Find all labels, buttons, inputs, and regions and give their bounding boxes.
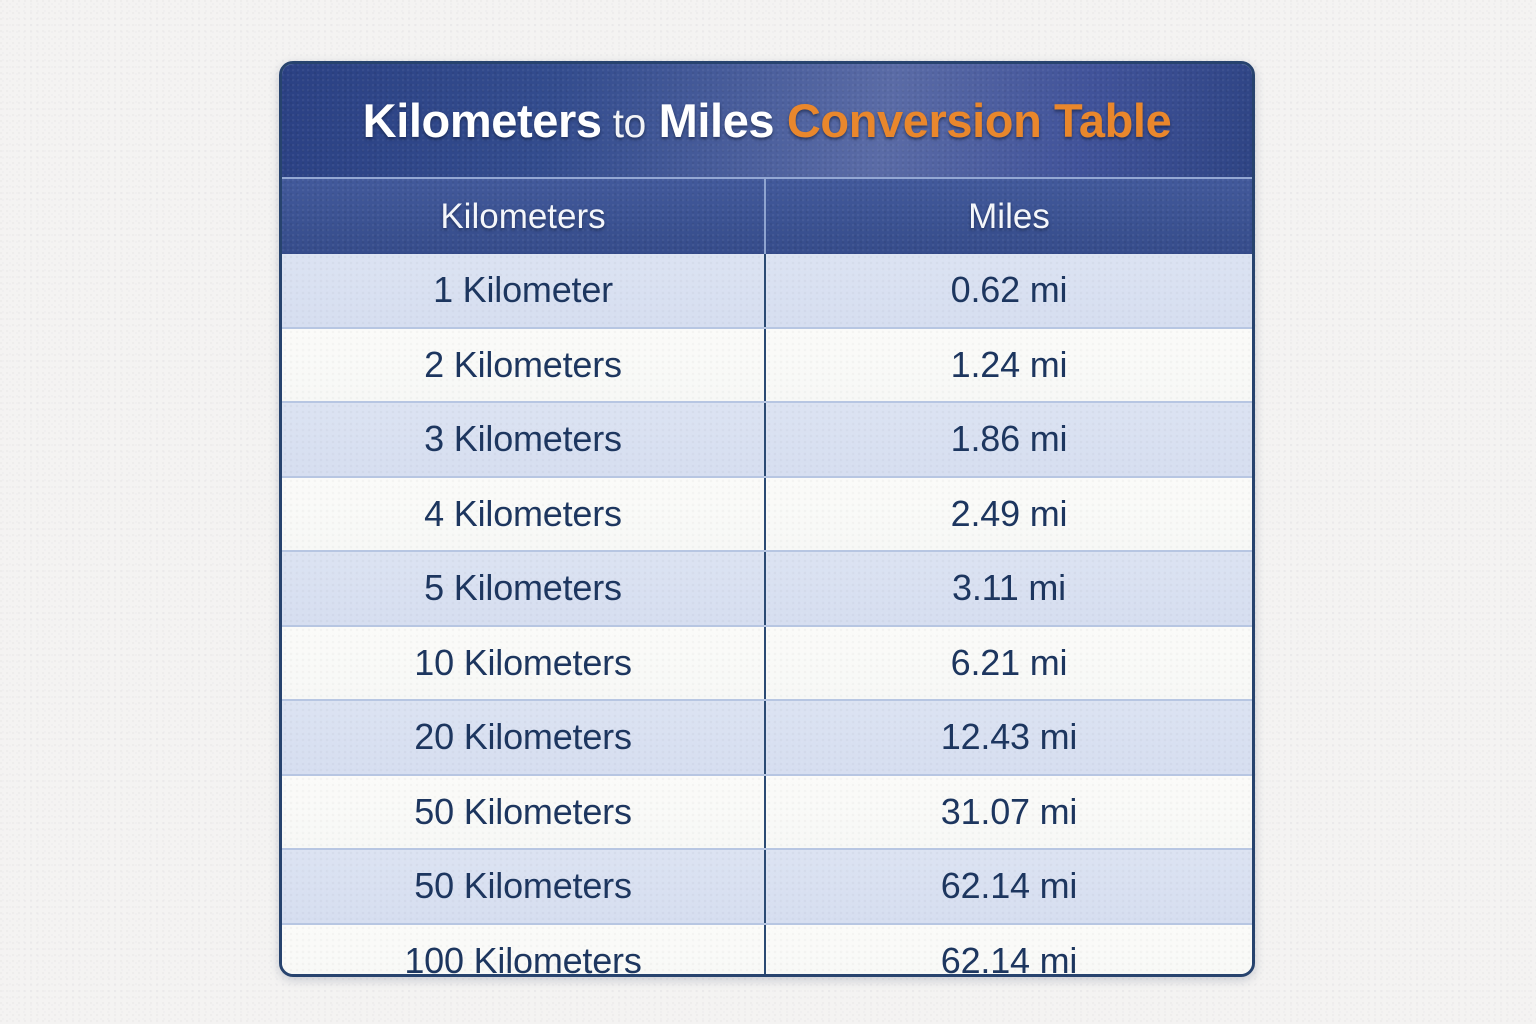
- cell-miles: 12.43 mi: [764, 701, 1252, 774]
- cell-miles-value: 6.21 mi: [951, 642, 1068, 684]
- cell-kilometers-value: 20 Kilometers: [414, 716, 632, 758]
- cell-miles: 3.11 mi: [764, 552, 1252, 625]
- cell-kilometers-value: 50 Kilometers: [414, 865, 632, 907]
- conversion-table-card: Kilometers to Miles Conversion Table Kil…: [279, 61, 1255, 977]
- title-part-miles: Miles: [646, 94, 774, 147]
- cell-miles: 6.21 mi: [764, 627, 1252, 700]
- table-row: 2 Kilometers1.24 mi: [282, 327, 1252, 402]
- cell-miles-value: 3.11 mi: [952, 567, 1066, 609]
- cell-miles: 31.07 mi: [764, 776, 1252, 849]
- cell-kilometers-value: 1 Kilometer: [433, 269, 613, 311]
- table-row: 100 Kilometers62.14 mi: [282, 923, 1252, 978]
- title-part-conversion-table: Conversion Table: [774, 94, 1171, 147]
- table-column-header-row: Kilometers Miles: [282, 177, 1252, 254]
- table-row: 1 Kilometer0.62 mi: [282, 254, 1252, 327]
- cell-miles-value: 2.49 mi: [951, 493, 1068, 535]
- table-row: 50 Kilometers62.14 mi: [282, 848, 1252, 923]
- cell-miles: 62.14 mi: [764, 925, 1252, 978]
- cell-kilometers: 5 Kilometers: [282, 552, 764, 625]
- cell-miles-value: 62.14 mi: [941, 865, 1077, 907]
- cell-kilometers-value: 100 Kilometers: [404, 940, 641, 977]
- cell-kilometers-value: 5 Kilometers: [424, 567, 622, 609]
- table-row: 10 Kilometers6.21 mi: [282, 625, 1252, 700]
- cell-miles-value: 62.14 mi: [941, 940, 1077, 977]
- cell-miles-value: 0.62 mi: [951, 269, 1068, 311]
- cell-miles: 1.86 mi: [764, 403, 1252, 476]
- table-row: 4 Kilometers2.49 mi: [282, 476, 1252, 551]
- cell-kilometers-value: 50 Kilometers: [414, 791, 632, 833]
- cell-miles: 2.49 mi: [764, 478, 1252, 551]
- cell-kilometers: 1 Kilometer: [282, 254, 764, 327]
- table-title-bar: Kilometers to Miles Conversion Table: [282, 64, 1252, 177]
- table-row: 5 Kilometers3.11 mi: [282, 550, 1252, 625]
- cell-kilometers: 2 Kilometers: [282, 329, 764, 402]
- cell-miles: 0.62 mi: [764, 254, 1252, 327]
- cell-kilometers: 50 Kilometers: [282, 776, 764, 849]
- table-row: 3 Kilometers1.86 mi: [282, 401, 1252, 476]
- page-title: Kilometers to Miles Conversion Table: [363, 93, 1172, 148]
- cell-kilometers: 10 Kilometers: [282, 627, 764, 700]
- cell-miles-value: 31.07 mi: [941, 791, 1077, 833]
- cell-kilometers: 4 Kilometers: [282, 478, 764, 551]
- cell-kilometers-value: 2 Kilometers: [424, 344, 622, 386]
- title-part-to: to: [602, 100, 646, 146]
- column-header-kilometers: Kilometers: [282, 179, 764, 254]
- cell-miles-value: 1.86 mi: [951, 418, 1068, 460]
- cell-kilometers: 20 Kilometers: [282, 701, 764, 774]
- cell-kilometers: 50 Kilometers: [282, 850, 764, 923]
- cell-miles: 1.24 mi: [764, 329, 1252, 402]
- table-row: 50 Kilometers31.07 mi: [282, 774, 1252, 849]
- cell-kilometers-value: 4 Kilometers: [424, 493, 622, 535]
- column-header-miles-label: Miles: [968, 197, 1050, 237]
- cell-kilometers: 100 Kilometers: [282, 925, 764, 978]
- column-header-kilometers-label: Kilometers: [440, 197, 605, 237]
- column-header-miles: Miles: [764, 179, 1252, 254]
- cell-miles-value: 12.43 mi: [941, 716, 1077, 758]
- cell-kilometers-value: 3 Kilometers: [424, 418, 622, 460]
- cell-miles: 62.14 mi: [764, 850, 1252, 923]
- table-row: 20 Kilometers12.43 mi: [282, 699, 1252, 774]
- table-body: 1 Kilometer0.62 mi2 Kilometers1.24 mi3 K…: [282, 254, 1252, 977]
- cell-kilometers: 3 Kilometers: [282, 403, 764, 476]
- cell-miles-value: 1.24 mi: [951, 344, 1068, 386]
- title-part-kilometers: Kilometers: [363, 94, 602, 147]
- cell-kilometers-value: 10 Kilometers: [414, 642, 632, 684]
